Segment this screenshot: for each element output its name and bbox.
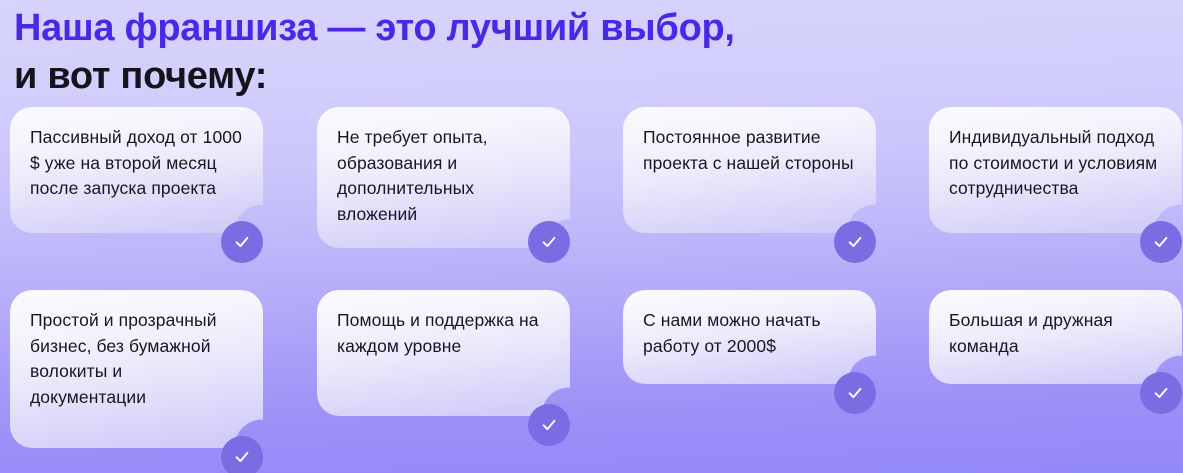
page-title: Наша франшиза — это лучший выбор, и вот … <box>14 4 735 101</box>
benefit-card-body: Пассивный доход от 1000 $ уже на второй … <box>10 107 263 233</box>
benefit-card-body: Большая и дружная команда <box>929 290 1182 384</box>
check-icon <box>221 436 263 473</box>
page-title-line-1: Наша франшиза — это лучший выбор, <box>14 4 735 52</box>
benefit-card-text: Простой и прозрачный бизнес, без бумажно… <box>30 308 243 411</box>
benefit-card-body: Не требует опыта, образования и дополнит… <box>317 107 570 248</box>
benefit-card[interactable]: С нами можно начать работу от 2000$ <box>623 290 876 384</box>
benefits-grid: Пассивный доход от 1000 $ уже на второй … <box>10 107 1183 473</box>
benefit-card[interactable]: Помощь и поддержка на каждом уровне <box>317 290 570 416</box>
benefit-card-body: Простой и прозрачный бизнес, без бумажно… <box>10 290 263 448</box>
check-icon <box>834 372 876 414</box>
check-icon <box>1140 372 1182 414</box>
benefit-card-text: С нами можно начать работу от 2000$ <box>643 308 856 359</box>
benefit-card[interactable]: Индивидуальный подход по стоимости и усл… <box>929 107 1182 233</box>
check-icon <box>834 221 876 263</box>
benefit-card-text: Постоянное развитие проекта с нашей стор… <box>643 125 856 176</box>
benefits-row-2: Простой и прозрачный бизнес, без бумажно… <box>10 290 1183 473</box>
benefit-card-body: Помощь и поддержка на каждом уровне <box>317 290 570 416</box>
benefit-card-body: С нами можно начать работу от 2000$ <box>623 290 876 384</box>
benefit-card[interactable]: Постоянное развитие проекта с нашей стор… <box>623 107 876 233</box>
benefit-card-text: Большая и дружная команда <box>949 308 1162 359</box>
benefit-card[interactable]: Пассивный доход от 1000 $ уже на второй … <box>10 107 263 233</box>
benefit-card-text: Помощь и поддержка на каждом уровне <box>337 308 550 359</box>
benefit-card-text: Пассивный доход от 1000 $ уже на второй … <box>30 125 243 202</box>
benefit-card[interactable]: Простой и прозрачный бизнес, без бумажно… <box>10 290 263 448</box>
page-title-line-2: и вот почему: <box>14 52 735 100</box>
check-icon <box>1140 221 1182 263</box>
check-icon <box>528 404 570 446</box>
benefit-card[interactable]: Не требует опыта, образования и дополнит… <box>317 107 570 248</box>
benefit-card-text: Индивидуальный подход по стоимости и усл… <box>949 125 1162 202</box>
benefit-card[interactable]: Большая и дружная команда <box>929 290 1182 384</box>
benefit-card-body: Индивидуальный подход по стоимости и усл… <box>929 107 1182 233</box>
benefits-row-1: Пассивный доход от 1000 $ уже на второй … <box>10 107 1183 290</box>
benefit-card-body: Постоянное развитие проекта с нашей стор… <box>623 107 876 233</box>
check-icon <box>528 221 570 263</box>
benefit-card-text: Не требует опыта, образования и дополнит… <box>337 125 550 228</box>
check-icon <box>221 221 263 263</box>
